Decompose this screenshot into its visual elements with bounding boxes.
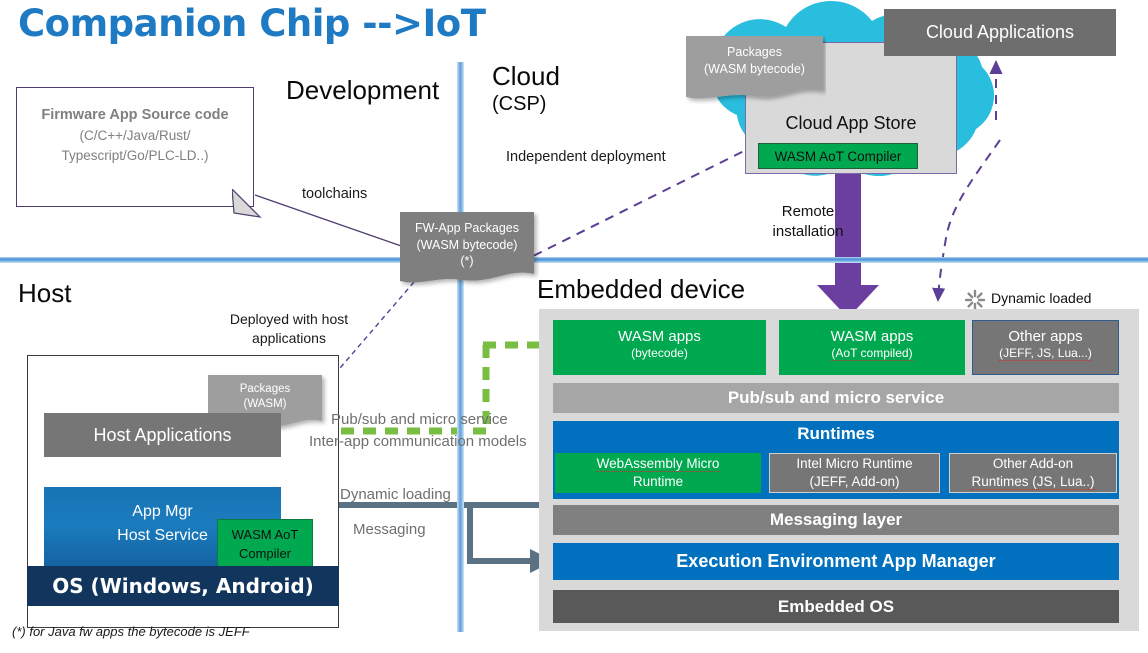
- label-remote-installation-l2: installation: [766, 222, 850, 242]
- page-title: Companion Chip -->IoT: [18, 2, 485, 45]
- embedded-ee-app-manager: Execution Environment App Manager: [553, 543, 1119, 580]
- label-messaging: Messaging: [353, 521, 426, 538]
- embedded-app-box-0: WASM apps (bytecode): [553, 320, 766, 375]
- callout-cloud-packages: Packages (WASM bytecode): [686, 36, 826, 104]
- label-pubsub-micro-service: Pub/sub and micro service: [331, 411, 508, 428]
- arrow-remote-installation: [817, 170, 879, 318]
- heading-cloud: Cloud: [492, 61, 560, 92]
- cloud-wasm-aot-compiler-label: WASM AoT Compiler: [775, 149, 902, 164]
- cloud-wasm-aot-compiler: WASM AoT Compiler: [758, 143, 918, 169]
- callout-fw-packages: FW-App Packages (WASM bytecode) (*): [400, 212, 540, 288]
- cloud-applications-label: Cloud Applications: [926, 22, 1074, 42]
- runtime-2-line1: Other Add-on: [971, 455, 1094, 473]
- embedded-app-1-line1: WASM apps: [779, 328, 965, 346]
- host-applications-box: Host Applications: [44, 413, 281, 457]
- firmware-langs-2: Typescript/Go/PLC-LD..): [17, 146, 253, 166]
- host-os-box: OS (Windows, Android): [27, 566, 339, 606]
- embedded-app-0-line1: WASM apps: [553, 328, 766, 346]
- cloud-packages-line1: Packages: [727, 44, 782, 61]
- footnote-text: (*) for Java fw apps the bytecode is JEF…: [12, 624, 250, 639]
- label-deployed-with-host: Deployed with host applications: [212, 310, 366, 348]
- firmware-title: Firmware App Source code: [17, 105, 253, 126]
- runtime-1-line2: (JEFF, Add-on): [796, 473, 912, 491]
- firmware-source-box: Firmware App Source code (C/C++/Java/Rus…: [16, 87, 254, 207]
- embedded-ee-app-manager-label: Execution Environment App Manager: [676, 551, 995, 571]
- runtime-0-line1: WebAssembly Micro: [597, 455, 720, 473]
- label-deployed-with-host-l2: applications: [212, 329, 366, 348]
- footnote: (*) for Java fw apps the bytecode is JEF…: [12, 624, 250, 639]
- spinner-icon-dynamic-loaded: [966, 291, 984, 309]
- diagram-canvas: Companion Chip -->IoT Firmware App Sourc…: [0, 0, 1148, 653]
- host-applications-label: Host Applications: [93, 425, 231, 445]
- fw-packages-line2: (WASM bytecode): [417, 237, 518, 254]
- embedded-app-0-line2: (bytecode): [553, 346, 766, 362]
- runtime-box-1: Intel Micro Runtime (JEFF, Add-on): [769, 453, 940, 493]
- host-packages-line2: (WASM): [243, 397, 286, 412]
- embedded-app-2-line1: Other apps: [973, 328, 1118, 346]
- embedded-app-1-line2: (AoT compiled): [779, 346, 965, 362]
- embedded-app-2-line2: (JEFF, JS, Lua...): [973, 346, 1118, 362]
- embedded-pubsub-bar: Pub/sub and micro service: [553, 383, 1119, 413]
- embedded-app-box-2: Other apps (JEFF, JS, Lua...): [972, 320, 1119, 375]
- embedded-os-box: Embedded OS: [553, 590, 1119, 623]
- runtime-box-2: Other Add-on Runtimes (JS, Lua..): [949, 453, 1117, 493]
- runtime-2-line2: Runtimes (JS, Lua..): [971, 473, 1094, 491]
- cloud-applications-box: Cloud Applications: [884, 9, 1116, 56]
- arrow-messaging: [470, 505, 530, 561]
- firmware-langs-1: (C/C++/Java/Rust/: [17, 126, 253, 146]
- heading-host: Host: [18, 278, 71, 309]
- label-inter-app-models: Inter-app communication models: [309, 433, 527, 450]
- heading-development: Development: [286, 75, 439, 106]
- runtime-0-line2: Runtime: [597, 473, 720, 491]
- host-aot-line1: WASM AoT: [232, 526, 299, 545]
- fw-packages-line1: FW-App Packages: [415, 220, 519, 237]
- divider-horizontal: [0, 257, 1148, 263]
- fw-packages-line3: (*): [460, 253, 473, 270]
- embedded-runtimes-title: Runtimes: [553, 421, 1119, 444]
- embedded-os-label: Embedded OS: [778, 597, 894, 616]
- label-dynamic-loaded: Dynamic loaded: [991, 290, 1091, 306]
- runtime-1-line1: Intel Micro Runtime: [796, 455, 912, 473]
- embedded-app-box-1: WASM apps (AoT compiled): [779, 320, 965, 375]
- host-os-label: OS (Windows, Android): [52, 574, 314, 598]
- label-remote-installation-l1: Remote: [766, 202, 850, 222]
- embedded-pubsub-label: Pub/sub and micro service: [728, 388, 944, 407]
- divider-vertical: [457, 62, 464, 632]
- cloud-app-store-title: Cloud App Store: [746, 113, 956, 134]
- label-dynamic-loading: Dynamic loading: [340, 486, 451, 503]
- host-aot-line2: Compiler: [239, 545, 291, 564]
- runtime-box-0: WebAssembly Micro Runtime: [555, 453, 761, 493]
- firmware-box-tail: [232, 189, 262, 219]
- heading-embedded-device: Embedded device: [537, 274, 745, 305]
- embedded-messaging-layer: Messaging layer: [553, 505, 1119, 535]
- host-packages-line1: Packages: [240, 382, 291, 397]
- label-toolchains: toolchains: [302, 186, 367, 202]
- heading-cloud-sub: (CSP): [492, 93, 546, 116]
- embedded-runtimes-block: Runtimes WebAssembly Micro Runtime Intel…: [553, 421, 1119, 499]
- cloud-packages-line2: (WASM bytecode): [704, 61, 805, 78]
- embedded-messaging-layer-label: Messaging layer: [770, 510, 902, 529]
- label-independent-deployment: Independent deployment: [506, 149, 666, 165]
- connector-toolchains: [255, 195, 404, 247]
- label-deployed-with-host-l1: Deployed with host: [212, 310, 366, 329]
- label-remote-installation: Remote installation: [766, 202, 850, 243]
- host-wasm-aot-compiler: WASM AoT Compiler: [217, 519, 313, 571]
